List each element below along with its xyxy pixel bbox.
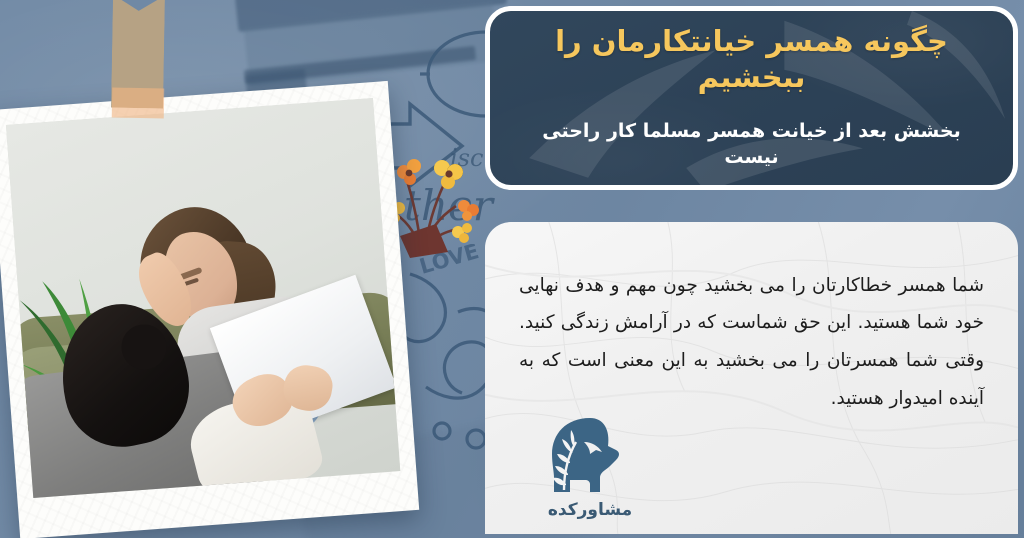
photo-scene: [6, 98, 400, 498]
page-subtitle: بخشش بعد از خیانت همسر مسلما کار راحتی ن…: [516, 118, 987, 171]
body-panel: شما همسر خطاکارتان را می بخشید چون مهم و…: [485, 222, 1018, 534]
social-post-canvas: LOVE ther isc: [0, 0, 1024, 538]
page-title: چگونه همسر خیانتکارمان را ببخشیم: [516, 23, 987, 96]
therapy-photo: [0, 81, 419, 538]
body-paragraph: شما همسر خطاکارتان را می بخشید چون مهم و…: [519, 267, 984, 419]
tape-overlap: [112, 88, 165, 119]
photo-image: [6, 98, 400, 498]
head-profile-with-plant-icon: [530, 416, 650, 494]
header-panel: چگونه همسر خیانتکارمان را ببخشیم بخشش بع…: [485, 6, 1018, 190]
brand-name: مشاورکده: [530, 500, 650, 520]
brand-logo: مشاورکده: [530, 416, 650, 528]
photo-frame: [0, 81, 419, 538]
